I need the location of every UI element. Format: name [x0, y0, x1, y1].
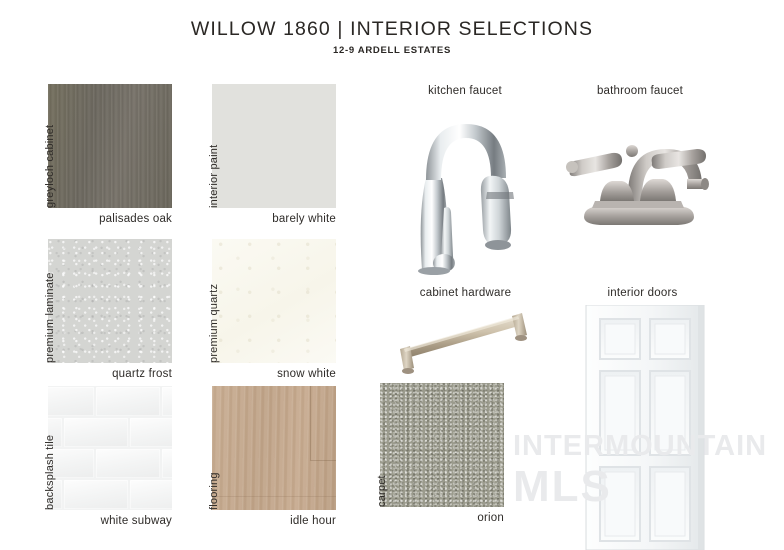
plank-seam — [310, 460, 336, 461]
tile-row — [48, 417, 172, 448]
product-label-backsplash: white subway — [22, 515, 172, 527]
swatch-laminate[interactable] — [48, 239, 172, 363]
board-header: WILLOW 1860 | INTERIOR SELECTIONS 12-9 A… — [0, 18, 784, 56]
interior-selections-board: WILLOW 1860 | INTERIOR SELECTIONS 12-9 A… — [0, 0, 784, 550]
subway-tile — [162, 449, 172, 478]
product-label-cabinet-hardware: cabinet hardware — [378, 287, 553, 299]
cabinet-pull-icon — [390, 305, 540, 377]
tile-row — [48, 386, 172, 417]
tile-row — [48, 479, 172, 510]
swatch-paint[interactable] — [212, 84, 336, 208]
category-label-backsplash: backsplash tile — [44, 435, 56, 510]
swatch-carpet[interactable] — [380, 383, 504, 507]
category-label-cabinet: greyloch cabinet — [44, 125, 56, 208]
subway-tile — [130, 480, 172, 509]
tile-row — [48, 448, 172, 479]
swatch-cabinet[interactable] — [48, 84, 172, 208]
category-label-quartz: premium quartz — [208, 284, 220, 363]
kitchen-faucet-icon — [392, 100, 542, 275]
product-label-paint: barely white — [186, 213, 336, 225]
bathroom-faucet-icon — [556, 105, 726, 235]
page-title: WILLOW 1860 | INTERIOR SELECTIONS — [0, 18, 784, 41]
category-label-carpet: carpet — [376, 475, 388, 507]
category-label-paint: interior paint — [208, 145, 220, 208]
product-label-laminate: quartz frost — [22, 368, 172, 380]
swatch-quartz[interactable] — [212, 239, 336, 363]
product-label-interior-doors: interior doors — [555, 287, 730, 299]
subway-tile — [64, 418, 128, 447]
subway-tile — [162, 387, 172, 416]
swatch-flooring[interactable] — [212, 386, 336, 510]
product-label-bathroom-faucet: bathroom faucet — [550, 85, 730, 97]
swatch-backsplash[interactable] — [48, 386, 172, 510]
subway-tile — [96, 387, 160, 416]
product-label-carpet: orion — [354, 512, 504, 524]
product-label-kitchen-faucet: kitchen faucet — [380, 85, 550, 97]
subway-tile — [48, 387, 94, 416]
product-label-quartz: snow white — [186, 368, 336, 380]
page-subtitle: 12-9 ARDELL ESTATES — [0, 45, 784, 56]
product-label-flooring: idle hour — [186, 515, 336, 527]
subway-tile — [96, 449, 160, 478]
product-label-cabinet: palisades oak — [22, 213, 172, 225]
six-panel-door-icon — [580, 305, 710, 550]
category-label-flooring: flooring — [208, 472, 220, 510]
category-label-laminate: premium laminate — [44, 272, 56, 363]
subway-tile — [130, 418, 172, 447]
plank-seam — [212, 496, 336, 497]
plank-seam — [310, 386, 311, 460]
subway-tile — [64, 480, 128, 509]
